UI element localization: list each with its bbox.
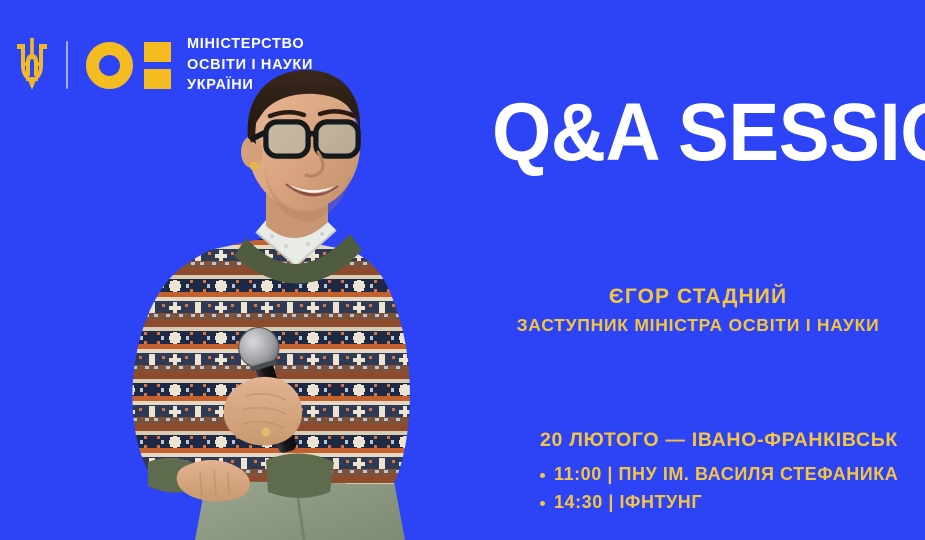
schedule-block: 20 ЛЮТОГО — ІВАНО-ФРАНКІВСЬК 11:00 | ПНУ… bbox=[540, 428, 898, 517]
mon-ukraine-logo bbox=[86, 42, 171, 89]
ministry-lockup: МІНІСТЕРСТВО ОСВІТИ І НАУКИ УКРАЇНИ bbox=[12, 30, 313, 100]
headline-title: Q&A SESSION bbox=[492, 92, 925, 174]
session-text: 11:00 | ПНУ ІМ. ВАСИЛЯ СТЕФАНИКА bbox=[554, 461, 898, 489]
speaker-block: ЄГОР СТАДНИЙ ЗАСТУПНИК МІНІСТРА ОСВІТИ І… bbox=[492, 284, 904, 337]
schedule-session-list: 11:00 | ПНУ ІМ. ВАСИЛЯ СТЕФАНИКА 14:30 |… bbox=[540, 461, 898, 517]
ministry-line-2: ОСВІТИ І НАУКИ bbox=[187, 55, 313, 76]
bullet-icon bbox=[540, 501, 545, 506]
schedule-session-item: 14:30 | ІФНТУНГ bbox=[540, 489, 898, 517]
schedule-session-item: 11:00 | ПНУ ІМ. ВАСИЛЯ СТЕФАНИКА bbox=[540, 461, 898, 489]
poster-canvas: МІНІСТЕРСТВО ОСВІТИ І НАУКИ УКРАЇНИ Q&A … bbox=[0, 0, 925, 540]
bullet-icon bbox=[540, 473, 545, 478]
schedule-date-location: 20 ЛЮТОГО — ІВАНО-ФРАНКІВСЬК bbox=[540, 428, 898, 452]
ukraine-trident-emblem bbox=[12, 36, 52, 94]
session-text: 14:30 | ІФНТУНГ bbox=[554, 489, 702, 517]
speaker-photo bbox=[60, 60, 480, 540]
ministry-line-3: УКРАЇНИ bbox=[187, 75, 313, 96]
logo-ring-shape bbox=[86, 42, 133, 89]
speaker-name: ЄГОР СТАДНИЙ bbox=[492, 284, 904, 310]
lockup-divider bbox=[66, 41, 68, 89]
logo-bars-shape bbox=[144, 42, 171, 89]
ministry-line-1: МІНІСТЕРСТВО bbox=[187, 34, 313, 55]
speaker-role: ЗАСТУПНИК МІНІСТРА ОСВІТИ І НАУКИ bbox=[492, 314, 904, 337]
ministry-name: МІНІСТЕРСТВО ОСВІТИ І НАУКИ УКРАЇНИ bbox=[187, 34, 313, 96]
